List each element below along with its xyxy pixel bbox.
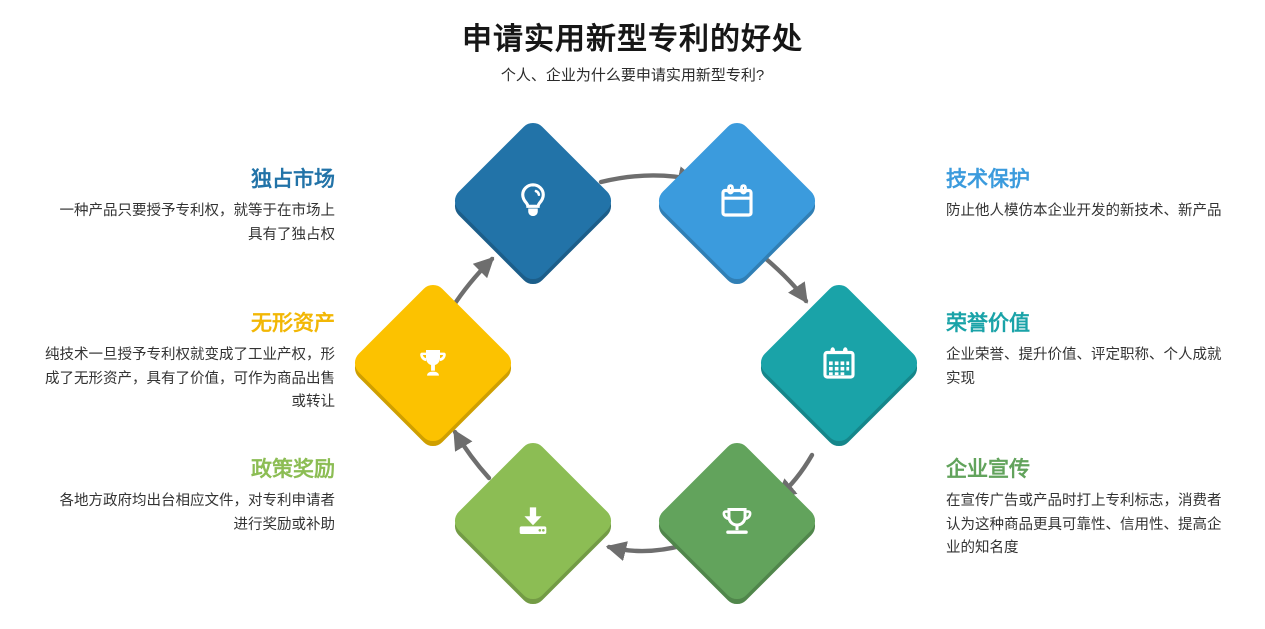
block-body: 纯技术一旦授予专利权就变成了工业产权，形成了无形资产，具有了价值，可作为商品出售…: [43, 344, 335, 414]
node-intangible-asset[interactable]: [374, 304, 492, 422]
text-block-intangible-asset: 无形资产 纯技术一旦授予专利权就变成了工业产权，形成了无形资产，具有了价值，可作…: [43, 311, 335, 415]
calendar-icon: [678, 142, 796, 260]
node-enterprise-promotion[interactable]: [678, 462, 796, 580]
node-honor-value[interactable]: [780, 304, 898, 422]
node-monopoly[interactable]: [474, 142, 592, 260]
block-title: 技术保护: [946, 167, 1224, 193]
block-body: 防止他人模仿本企业开发的新技术、新产品: [946, 200, 1224, 223]
lightbulb-icon: [474, 142, 592, 260]
block-title: 荣誉价值: [946, 311, 1224, 337]
text-block-tech-protection: 技术保护 防止他人模仿本企业开发的新技术、新产品: [946, 167, 1224, 224]
download-icon: [474, 462, 592, 580]
arrow-upper-right: [765, 258, 806, 301]
text-block-policy-incentive: 政策奖励 各地方政府均出台相应文件，对专利申请者进行奖励或补助: [57, 457, 335, 537]
trophy-solid-icon: [374, 304, 492, 422]
block-title: 无形资产: [43, 311, 335, 337]
block-title: 独占市场: [57, 167, 335, 193]
node-tech-protection[interactable]: [678, 142, 796, 260]
block-body: 一种产品只要授予专利权，就等于在市场上具有了独占权: [57, 200, 335, 247]
block-title: 企业宣传: [946, 457, 1224, 483]
node-policy-incentive[interactable]: [474, 462, 592, 580]
block-body: 企业荣誉、提升价值、评定职称、个人成就实现: [946, 344, 1224, 391]
block-body: 各地方政府均出台相应文件，对专利申请者进行奖励或补助: [57, 490, 335, 537]
text-block-monopoly: 独占市场 一种产品只要授予专利权，就等于在市场上具有了独占权: [57, 167, 335, 247]
arrow-upper-left: [452, 259, 492, 308]
block-title: 政策奖励: [57, 457, 335, 483]
text-block-honor-value: 荣誉价值 企业荣誉、提升价值、评定职称、个人成就实现: [946, 311, 1224, 391]
text-block-enterprise-promotion: 企业宣传 在宣传广告或产品时打上专利标志，消费者认为这种商品更具可靠性、信用性、…: [946, 457, 1224, 561]
block-body: 在宣传广告或产品时打上专利标志，消费者认为这种商品更具可靠性、信用性、提高企业的…: [946, 490, 1224, 560]
calendar-grid-icon: [780, 304, 898, 422]
trophy-outline-icon: [678, 462, 796, 580]
